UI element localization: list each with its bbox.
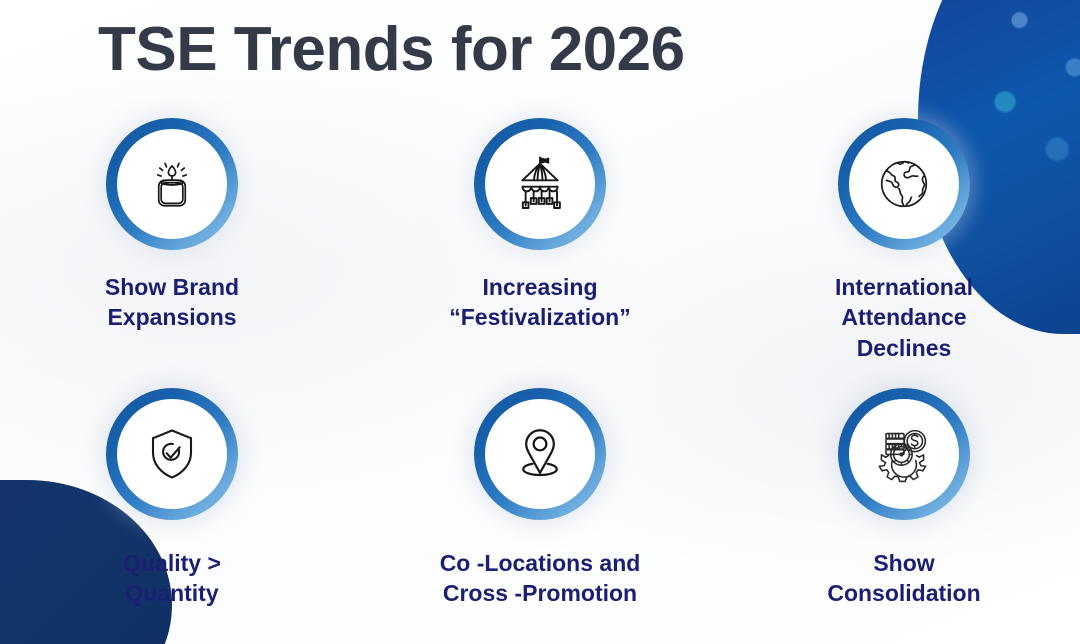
trend-item-increasing-festivalization[interactable]: Increasing “Festivalization” [360,118,720,388]
slide-canvas: TSE Trends for 2026 Show Brand Expansion… [0,0,1080,644]
trend-item-show-brand-expansions[interactable]: Show Brand Expansions [0,118,352,388]
trend-icon-badge [838,388,970,520]
gear-coins-gauge-icon [871,421,937,487]
page-title: TSE Trends for 2026 [98,14,685,85]
location-pin-icon [509,423,571,485]
trend-caption: Quality > Quantity [123,548,221,609]
trend-caption: Show Consolidation [827,548,980,609]
trend-item-international-attendance-declines[interactable]: International Attendance Declines [724,118,1080,388]
trend-item-co-locations-and-cross-promotion[interactable]: Co -Locations and Cross -Promotion [360,388,720,609]
shield-check-icon [140,422,204,486]
candle-icon [138,150,206,218]
trend-icon-badge [474,388,606,520]
trend-icon-badge [838,118,970,250]
trend-item-quality-over-quantity[interactable]: Quality > Quantity [0,388,352,609]
trends-grid: Show Brand Expansions [0,118,1080,609]
trend-icon-badge [106,388,238,520]
trend-icon-badge [474,118,606,250]
circus-tent-icon [506,150,574,218]
trend-item-show-consolidation[interactable]: Show Consolidation [724,388,1080,609]
trend-icon-badge [106,118,238,250]
trend-caption: Increasing “Festivalization” [449,272,630,333]
trend-caption: Co -Locations and Cross -Promotion [440,548,641,609]
globe-icon [873,153,935,215]
trend-caption: Show Brand Expansions [105,272,239,333]
trend-caption: International Attendance Declines [835,272,973,363]
